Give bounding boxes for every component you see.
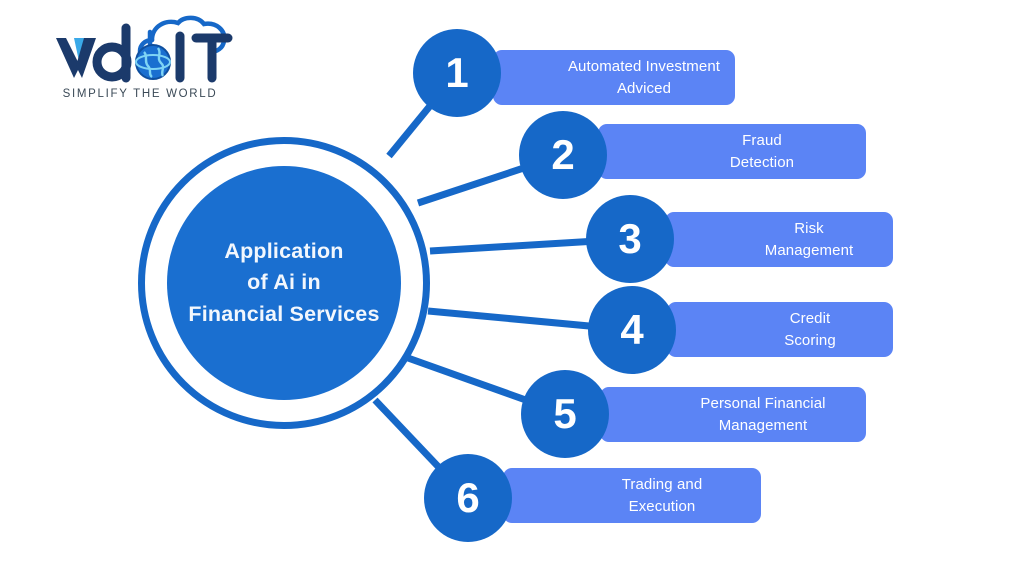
item-number-1: 1 xyxy=(445,52,468,94)
item-bar-3[interactable]: Risk Management xyxy=(665,212,893,267)
item-bar-4[interactable]: Credit Scoring xyxy=(667,302,893,357)
brand-tagline: SIMPLIFY THE WORLD xyxy=(48,88,232,100)
item-bar-2[interactable]: Fraud Detection xyxy=(598,124,866,179)
item-label-1: Automated Investment Adviced xyxy=(568,56,720,99)
infographic-canvas: SIMPLIFY THE WORLD Application of Ai in … xyxy=(0,0,1024,573)
item-bar-6[interactable]: Trading and Execution xyxy=(503,468,761,523)
hub-inner-disc: Application of Ai in Financial Services xyxy=(167,166,401,400)
item-badge-6[interactable]: 6 xyxy=(424,454,512,542)
hub-title: Application of Ai in Financial Services xyxy=(188,236,379,330)
item-number-6: 6 xyxy=(456,477,479,519)
item-badge-4[interactable]: 4 xyxy=(588,286,676,374)
item-badge-5[interactable]: 5 xyxy=(521,370,609,458)
item-label-6: Trading and Execution xyxy=(622,474,703,517)
item-label-5: Personal Financial Management xyxy=(700,393,825,436)
item-badge-2[interactable]: 2 xyxy=(519,111,607,199)
item-bar-5[interactable]: Personal Financial Management xyxy=(600,387,866,442)
vdoit-logo-icon xyxy=(40,14,240,86)
item-badge-3[interactable]: 3 xyxy=(586,195,674,283)
item-label-4: Credit Scoring xyxy=(784,308,836,351)
hub-node: Application of Ai in Financial Services xyxy=(138,137,430,429)
item-number-3: 3 xyxy=(618,218,641,260)
item-badge-1[interactable]: 1 xyxy=(413,29,501,117)
item-label-2: Fraud Detection xyxy=(730,130,794,173)
brand-logo: SIMPLIFY THE WORLD xyxy=(40,14,240,109)
item-number-4: 4 xyxy=(620,309,643,351)
item-number-5: 5 xyxy=(553,393,576,435)
item-number-2: 2 xyxy=(551,134,574,176)
item-bar-1[interactable]: Automated Investment Adviced xyxy=(493,50,735,105)
item-label-3: Risk Management xyxy=(765,218,854,261)
